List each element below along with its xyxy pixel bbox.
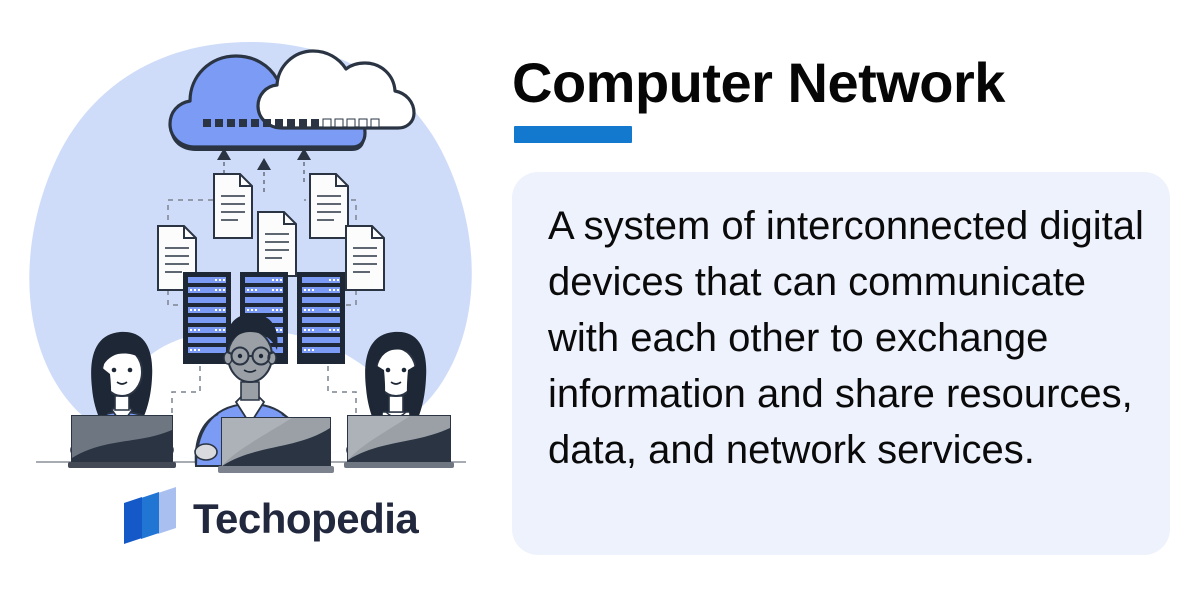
techopedia-wordmark: Techopedia [193, 495, 419, 542]
definition-panel: A system of interconnected digital devic… [512, 172, 1170, 555]
title-accent-bar [514, 126, 632, 143]
cloud-indicator-squares [203, 119, 379, 127]
server-rack [183, 272, 231, 364]
techopedia-logo[interactable]: Techopedia [124, 487, 419, 544]
laptop [344, 416, 454, 468]
page-title: Computer Network [512, 52, 1192, 114]
server-rack [297, 272, 345, 364]
techopedia-logo-mark [124, 487, 176, 544]
laptop [218, 418, 334, 473]
definition-text: A system of interconnected digital devic… [548, 198, 1146, 478]
text-content: Computer Network A system of interconnec… [512, 0, 1200, 603]
laptop [68, 416, 176, 468]
network-illustration: Techopedia [0, 0, 500, 603]
infographic-card: Techopedia Computer Network A system of … [0, 0, 1200, 603]
